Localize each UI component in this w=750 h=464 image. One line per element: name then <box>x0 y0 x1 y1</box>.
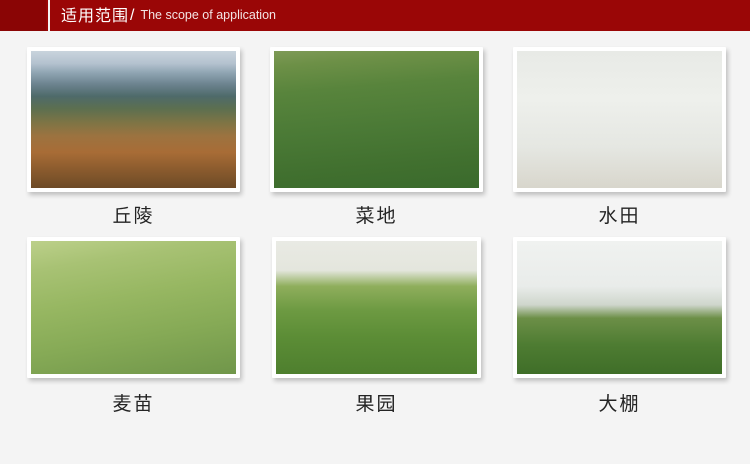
photo-weed-layer <box>276 241 477 374</box>
orchard-photo <box>276 241 477 374</box>
gallery-item-paddy-field[interactable]: 水田 <box>513 47 726 226</box>
gallery-item-caption: 麦苗 <box>112 395 154 414</box>
gallery-item-greenhouse[interactable]: 大棚 <box>513 237 726 414</box>
photo-blade-layer-b <box>31 241 236 374</box>
header-accent-block <box>0 0 46 31</box>
terraced-hills-photo <box>31 51 236 188</box>
page-title-en: The scope of application <box>140 9 276 22</box>
gallery-item-wheat-seedlings[interactable]: 麦苗 <box>27 237 240 414</box>
gallery-item-caption: 果园 <box>355 395 397 414</box>
page-title-cn: 适用范围 <box>61 8 129 24</box>
section-header: 适用范围 / The scope of application <box>0 0 750 31</box>
gallery-item-caption: 丘陵 <box>112 207 154 226</box>
paddy-field-photo <box>517 51 722 188</box>
header-divider-rule <box>48 0 50 31</box>
photo-card[interactable] <box>513 47 726 192</box>
gallery-item-hills[interactable]: 丘陵 <box>27 47 240 226</box>
greenhouse-photo <box>517 241 722 374</box>
photo-water-sheen-layer <box>517 51 722 188</box>
photo-card[interactable] <box>272 237 481 378</box>
photo-card[interactable] <box>27 237 240 378</box>
gallery-item-orchard[interactable]: 果园 <box>270 237 483 414</box>
gallery-row-1: 丘陵 菜地 <box>0 31 750 226</box>
gallery-item-caption: 菜地 <box>355 207 397 226</box>
scope-gallery: 丘陵 菜地 <box>0 31 750 464</box>
photo-card[interactable] <box>270 47 483 192</box>
photo-card[interactable] <box>27 47 240 192</box>
header-separator: / <box>130 8 134 24</box>
gallery-item-vegetable-field[interactable]: 菜地 <box>270 47 483 226</box>
wheat-seedlings-photo <box>31 241 236 374</box>
gallery-row-2: 麦苗 果园 <box>0 226 750 414</box>
photo-center-post-layer <box>517 241 722 374</box>
photo-card[interactable] <box>513 237 726 378</box>
photo-ground-layer <box>274 51 479 188</box>
header-text-group: 适用范围 / The scope of application <box>61 0 276 31</box>
photo-cloud-layer <box>31 51 236 188</box>
gallery-item-caption: 水田 <box>598 207 640 226</box>
vegetable-field-photo <box>274 51 479 188</box>
gallery-item-caption: 大棚 <box>598 395 640 414</box>
